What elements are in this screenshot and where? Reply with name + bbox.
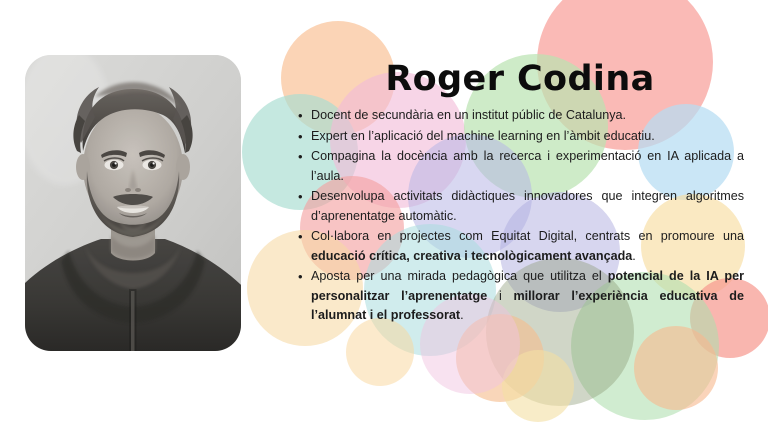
portrait-photo	[25, 55, 241, 351]
bullet-text: Col·labora en projectes com Equitat Digi…	[311, 229, 744, 243]
bullet-text-bold: educació crítica, creativa i tecnològica…	[311, 249, 632, 263]
bullet-secondary-teacher: Docent de secundària en un institut públ…	[296, 106, 744, 126]
bullet-pedagogical-vision: Aposta per una mirada pedagògica que uti…	[296, 267, 744, 326]
bullet-text: Desenvolupa activitats didàctiques innov…	[311, 189, 744, 223]
content-column: Roger Codina Docent de secundària en un …	[296, 58, 744, 327]
bullet-text: Compagina la docència amb la recerca i e…	[311, 149, 744, 183]
decorative-circle	[346, 318, 414, 386]
bio-bullet-list: Docent de secundària en un institut públ…	[296, 106, 744, 326]
decorative-circle	[634, 326, 718, 410]
decorative-circle	[502, 350, 574, 422]
bullet-text: Aposta per una mirada pedagògica que uti…	[311, 269, 608, 283]
bullet-text: Expert en l’aplicació del machine learni…	[311, 129, 655, 143]
bullet-text: Docent de secundària en un institut públ…	[311, 108, 626, 122]
bullet-text: .	[460, 308, 464, 322]
decorative-circle	[456, 314, 544, 402]
bullet-machine-learning-expert: Expert en l’aplicació del machine learni…	[296, 127, 744, 147]
bullet-teaching-research: Compagina la docència amb la recerca i e…	[296, 147, 744, 186]
bullet-innovative-activities: Desenvolupa activitats didàctiques innov…	[296, 187, 744, 226]
bullet-text: i	[487, 289, 513, 303]
page-title: Roger Codina	[296, 58, 744, 106]
slide-canvas: Roger Codina Docent de secundària en un …	[0, 0, 768, 432]
bullet-equitat-digital: Col·labora en projectes com Equitat Digi…	[296, 227, 744, 266]
bullet-text: .	[632, 249, 636, 263]
